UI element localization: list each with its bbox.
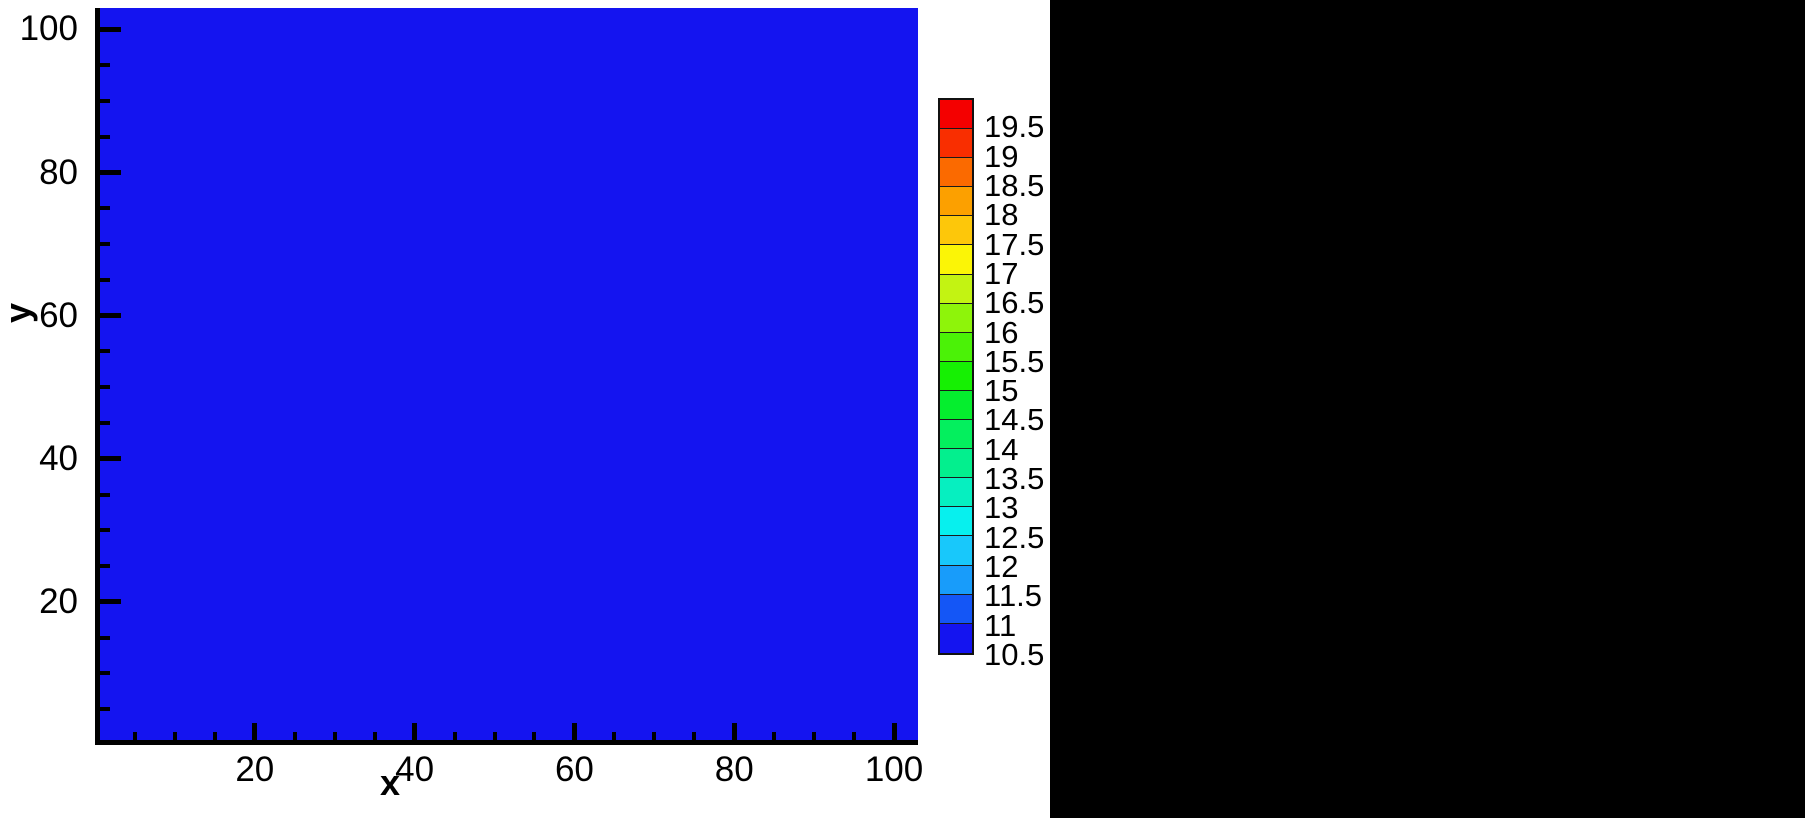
y-tick-minor bbox=[95, 242, 110, 246]
colorbar-tick-label: 19.5 bbox=[984, 111, 1044, 142]
colorbar-tick-label: 18 bbox=[984, 199, 1018, 230]
colorbar-swatch bbox=[940, 595, 972, 624]
x-tick-label: 60 bbox=[514, 752, 634, 787]
colorbar-swatch bbox=[940, 158, 972, 187]
y-tick-major bbox=[95, 456, 121, 461]
x-tick-minor bbox=[133, 732, 137, 745]
y-tick-minor bbox=[95, 636, 110, 640]
colorbar-tick-label: 14.5 bbox=[984, 404, 1044, 435]
y-tick-label: 100 bbox=[0, 11, 78, 46]
x-tick-label: 80 bbox=[674, 752, 794, 787]
y-tick-minor bbox=[95, 99, 110, 103]
x-tick-major bbox=[412, 723, 417, 745]
y-tick-minor bbox=[95, 493, 110, 497]
x-axis-title: x bbox=[380, 762, 400, 804]
colorbar-swatch bbox=[940, 507, 972, 536]
colorbar-swatch bbox=[940, 245, 972, 274]
y-tick-minor bbox=[95, 528, 110, 532]
y-tick-label: 20 bbox=[0, 584, 78, 619]
y-tick-minor bbox=[95, 671, 110, 675]
y-tick-major bbox=[95, 313, 121, 318]
colorbar-swatch bbox=[940, 187, 972, 216]
colorbar-swatch bbox=[940, 420, 972, 449]
x-tick-minor bbox=[692, 732, 696, 745]
colorbar-swatch bbox=[940, 304, 972, 333]
x-tick-major bbox=[732, 723, 737, 745]
colorbar bbox=[938, 98, 974, 655]
x-tick-minor bbox=[852, 732, 856, 745]
x-tick-major bbox=[572, 723, 577, 745]
x-tick-minor bbox=[532, 732, 536, 745]
y-tick-minor bbox=[95, 349, 110, 353]
y-tick-major bbox=[95, 27, 121, 32]
x-tick-minor bbox=[493, 732, 497, 745]
y-tick-minor bbox=[95, 707, 110, 711]
y-tick-minor bbox=[95, 63, 110, 67]
colorbar-tick-label: 11.5 bbox=[984, 580, 1042, 611]
colorbar-swatch bbox=[940, 536, 972, 565]
x-tick-major bbox=[892, 723, 897, 745]
colorbar-tick-label: 17.5 bbox=[984, 229, 1044, 260]
colorbar-swatch bbox=[940, 449, 972, 478]
x-tick-minor bbox=[293, 732, 297, 745]
x-tick-major bbox=[252, 723, 257, 745]
colorbar-swatch bbox=[940, 566, 972, 595]
colorbar-swatch bbox=[940, 362, 972, 391]
colorbar-swatch bbox=[940, 624, 972, 653]
colorbar-swatch bbox=[940, 275, 972, 304]
x-tick-label: 20 bbox=[195, 752, 315, 787]
figure-root: 20406080100 20406080100 y x 19.51918.518… bbox=[0, 0, 1805, 818]
x-tick-minor bbox=[333, 732, 337, 745]
x-tick-minor bbox=[772, 732, 776, 745]
y-tick-label: 80 bbox=[0, 155, 78, 190]
colorbar-swatch bbox=[940, 100, 972, 129]
y-tick-label: 40 bbox=[0, 441, 78, 476]
y-tick-minor bbox=[95, 564, 110, 568]
y-axis-title: y bbox=[0, 303, 39, 323]
contour-plot-area bbox=[95, 8, 918, 745]
y-tick-major bbox=[95, 170, 121, 175]
colorbar-swatch bbox=[940, 391, 972, 420]
x-tick-minor bbox=[173, 732, 177, 745]
x-tick-minor bbox=[652, 732, 656, 745]
y-tick-minor bbox=[95, 278, 110, 282]
y-tick-minor bbox=[95, 135, 110, 139]
colorbar-swatch bbox=[940, 333, 972, 362]
x-tick-label: 100 bbox=[834, 752, 954, 787]
x-tick-label: 40 bbox=[355, 752, 475, 787]
colorbar-swatch bbox=[940, 129, 972, 158]
colorbar-tick-label: 10.5 bbox=[984, 639, 1044, 670]
y-tick-major bbox=[95, 599, 121, 604]
x-tick-minor bbox=[453, 732, 457, 745]
colorbar-swatch bbox=[940, 478, 972, 507]
colorbar-tick-label: 19 bbox=[984, 141, 1018, 172]
y-tick-minor bbox=[95, 385, 110, 389]
x-tick-minor bbox=[812, 732, 816, 745]
x-tick-minor bbox=[612, 732, 616, 745]
x-tick-minor bbox=[373, 732, 377, 745]
colorbar-tick-label: 13 bbox=[984, 492, 1018, 523]
y-tick-minor bbox=[95, 421, 110, 425]
colorbar-tick-label: 16 bbox=[984, 317, 1018, 348]
x-tick-minor bbox=[213, 732, 217, 745]
y-tick-minor bbox=[95, 206, 110, 210]
colorbar-swatch bbox=[940, 216, 972, 245]
colorbar-tick-label: 16.5 bbox=[984, 287, 1044, 318]
contour-field bbox=[95, 8, 918, 745]
